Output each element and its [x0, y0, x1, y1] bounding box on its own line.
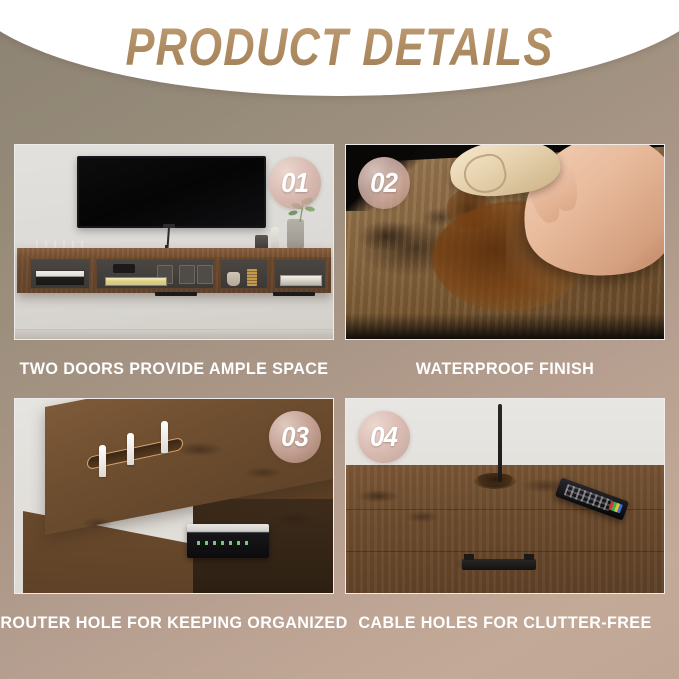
router-status-leds	[197, 541, 249, 545]
decor-vase	[287, 219, 304, 250]
caption-router-hole: ROUTER HOLE FOR KEEPING ORGANIZED	[22, 594, 326, 652]
vignette-bottom	[346, 313, 664, 339]
shelf-item-box	[113, 264, 135, 273]
panel-grid: 01 02 TWO DOORS PROVIDE AMPLE SPACE	[14, 144, 665, 644]
shelf-item-coil	[247, 269, 257, 286]
badge-number: 04	[371, 421, 398, 453]
badge-03: 03	[269, 411, 321, 463]
router-antenna	[99, 445, 106, 477]
console-cubby	[30, 259, 90, 289]
power-outlet	[197, 265, 213, 284]
panel-router-hole[interactable]: 03	[14, 398, 334, 594]
panel-cable-holes[interactable]: 04	[345, 398, 665, 594]
power-cord	[498, 404, 502, 482]
router-antenna	[127, 433, 134, 465]
door-handle	[273, 292, 315, 296]
badge-number: 02	[371, 167, 398, 199]
panel-waterproof[interactable]: 02	[345, 144, 665, 340]
caption-two-doors: TWO DOORS PROVIDE AMPLE SPACE	[22, 340, 326, 398]
baseboard	[15, 329, 333, 339]
panel-two-doors[interactable]: 01	[14, 144, 334, 340]
door-handle	[155, 292, 197, 296]
decor-bottle	[271, 227, 279, 250]
badge-04: 04	[358, 411, 410, 463]
shelf-item-pot	[227, 272, 240, 286]
shelf-item-books	[105, 277, 167, 286]
router-antenna	[161, 421, 168, 453]
badge-02: 02	[358, 157, 410, 209]
product-details-infographic: PRODUCT DETAILS	[0, 0, 679, 679]
television	[77, 156, 266, 228]
page-title: PRODUCT DETAILS	[61, 18, 618, 79]
plank-seam	[346, 551, 665, 552]
shelf-item-magazines	[280, 275, 322, 286]
badge-01: 01	[269, 157, 321, 209]
console-cubby	[96, 259, 214, 289]
power-outlet	[179, 265, 195, 284]
badge-number: 03	[282, 421, 309, 453]
caption-cable-holes: CABLE HOLES FOR CLUTTER-FREE	[353, 594, 657, 652]
console-cubby	[274, 259, 326, 289]
shelf-item-device	[35, 270, 85, 286]
media-console	[17, 248, 331, 293]
cable-hole	[474, 473, 516, 489]
door-handle	[462, 559, 536, 570]
console-cubby	[220, 259, 268, 289]
console-top-surface	[17, 248, 331, 257]
remote-color-buttons	[608, 501, 622, 514]
caption-waterproof: WATERPROOF FINISH	[353, 340, 657, 398]
badge-number: 01	[282, 167, 309, 199]
